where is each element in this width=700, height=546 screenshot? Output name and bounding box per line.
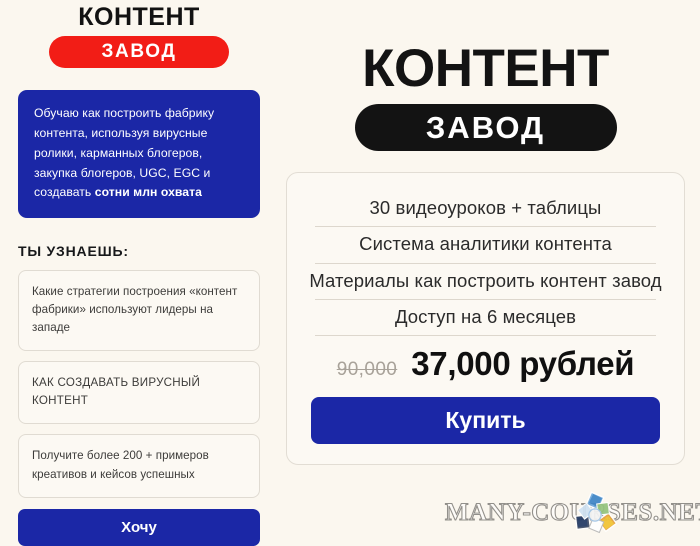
- intro-note-highlight: сотни млн охвата: [95, 185, 202, 199]
- hero-logo-word: КОНТЕНТ: [286, 42, 685, 95]
- left-column: КОНТЕНТ ЗАВОД Обучаю как построить фабри…: [0, 0, 278, 540]
- want-button[interactable]: Хочу: [18, 509, 260, 546]
- hero-logo-badge: ЗАВОД: [355, 104, 617, 151]
- list-item: КАК СОЗДАВАТЬ ВИРУСНЫЙ КОНТЕНТ: [18, 361, 260, 424]
- offer-feature: Материалы как построить контент завод: [309, 264, 662, 299]
- offer-feature: 30 видеоуроков + таблицы: [309, 191, 662, 226]
- intro-blue-note: Обучаю как построить фабрику контента, и…: [18, 90, 260, 218]
- offer-card: 30 видеоуроков + таблицы Система аналити…: [286, 172, 685, 465]
- right-column: КОНТЕНТ ЗАВОД 30 видеоуроков + таблицы С…: [278, 0, 700, 540]
- old-price: 90,000: [337, 359, 398, 381]
- learn-section-title: ТЫ УЗНАЕШЬ:: [18, 243, 278, 259]
- learn-fact-list: Какие стратегии построения «контент фабр…: [18, 270, 260, 498]
- offer-feature: Система аналитики контента: [309, 227, 662, 262]
- price-row: 90,000 37,000 рублей: [309, 336, 662, 387]
- buy-button[interactable]: Купить: [311, 397, 660, 444]
- landing-page: КОНТЕНТ ЗАВОД Обучаю как построить фабри…: [0, 0, 700, 540]
- left-logo: КОНТЕНТ ЗАВОД: [0, 0, 278, 68]
- list-item: Получите более 200 + примеров креативов …: [18, 434, 260, 497]
- offer-feature: Доступ на 6 месяцев: [309, 300, 662, 335]
- left-logo-badge: ЗАВОД: [49, 36, 229, 68]
- left-logo-word: КОНТЕНТ: [0, 4, 278, 30]
- hero-logo: КОНТЕНТ ЗАВОД: [286, 0, 685, 151]
- list-item: Какие стратегии построения «контент фабр…: [18, 270, 260, 351]
- current-price: 37,000 рублей: [411, 345, 634, 383]
